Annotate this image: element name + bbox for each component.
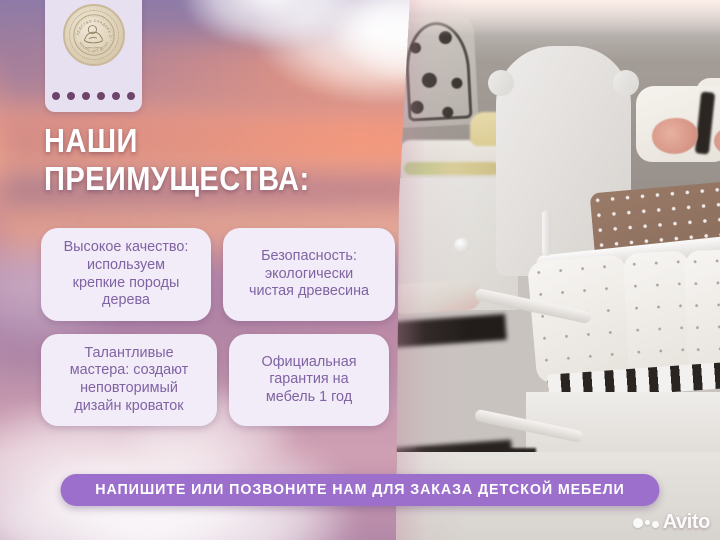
storage-drawer (396, 54, 508, 124)
advantages-grid: Высокое качество: используем крепкие пор… (41, 228, 396, 426)
svg-text:КОРОЛЕВСТВО СЛАДКИХ СНОВ: КОРОЛЕВСТВО СЛАДКИХ СНОВ (71, 12, 112, 38)
decorative-dots (45, 92, 142, 100)
dot (97, 92, 105, 100)
dot (127, 92, 135, 100)
cabinet-knob (454, 238, 470, 253)
drawer-shadow (396, 314, 507, 348)
avito-dot (633, 518, 643, 528)
dot (112, 92, 120, 100)
sleeping-baby-emblem-icon: КОРОЛЕВСТВО СЛАДКИХ СНОВ МЕБЕЛЬ ДЛЯ ДЕТЕ… (63, 4, 125, 66)
avito-logo-icon (633, 518, 659, 528)
bedding-bundle (404, 162, 500, 175)
poster-canvas: КОРОЛЕВСТВО СЛАДКИХ СНОВ МЕБЕЛЬ ДЛЯ ДЕТЕ… (0, 0, 720, 540)
svg-text:МЕБЕЛЬ ДЛЯ ДЕТЕЙ: МЕБЕЛЬ ДЛЯ ДЕТЕЙ (78, 41, 109, 53)
dot (82, 92, 90, 100)
advantages-row: Талантливые мастера: создают неповторимы… (41, 334, 396, 426)
star-bumper-pillow (684, 249, 720, 381)
advantage-card-craftsmen: Талантливые мастера: создают неповторимы… (41, 334, 217, 426)
page-title: НАШИ ПРЕИМУЩЕСТВА: (44, 122, 310, 197)
logo-panel: КОРОЛЕВСТВО СЛАДКИХ СНОВ МЕБЕЛЬ ДЛЯ ДЕТЕ… (45, 0, 142, 112)
advantages-row: Высокое качество: используем крепкие пор… (41, 228, 396, 321)
avito-dot (645, 520, 650, 525)
advantage-card-warranty: Официальная гарантия на мебель 1 год (229, 334, 389, 426)
storage-drawer (396, 0, 504, 62)
contact-cta-banner[interactable]: НАПИШИТЕ ИЛИ ПОЗВОНИТЕ НАМ ДЛЯ ЗАКАЗА ДЕ… (61, 474, 660, 506)
avito-dot (652, 521, 659, 528)
dot (52, 92, 60, 100)
dot (67, 92, 75, 100)
bed-rail-post (542, 210, 551, 256)
advantage-card-safety: Безопасность: экологически чистая древес… (223, 228, 395, 321)
drawer-contents (396, 279, 481, 315)
advantage-card-quality: Высокое качество: используем крепкие пор… (41, 228, 211, 321)
avito-wordmark: Avito (663, 511, 710, 534)
avito-watermark: Avito (633, 511, 710, 534)
product-photo-inner (396, 0, 720, 540)
svg-text:sweet dreams: sweet dreams (85, 45, 102, 49)
product-photo (396, 0, 720, 540)
